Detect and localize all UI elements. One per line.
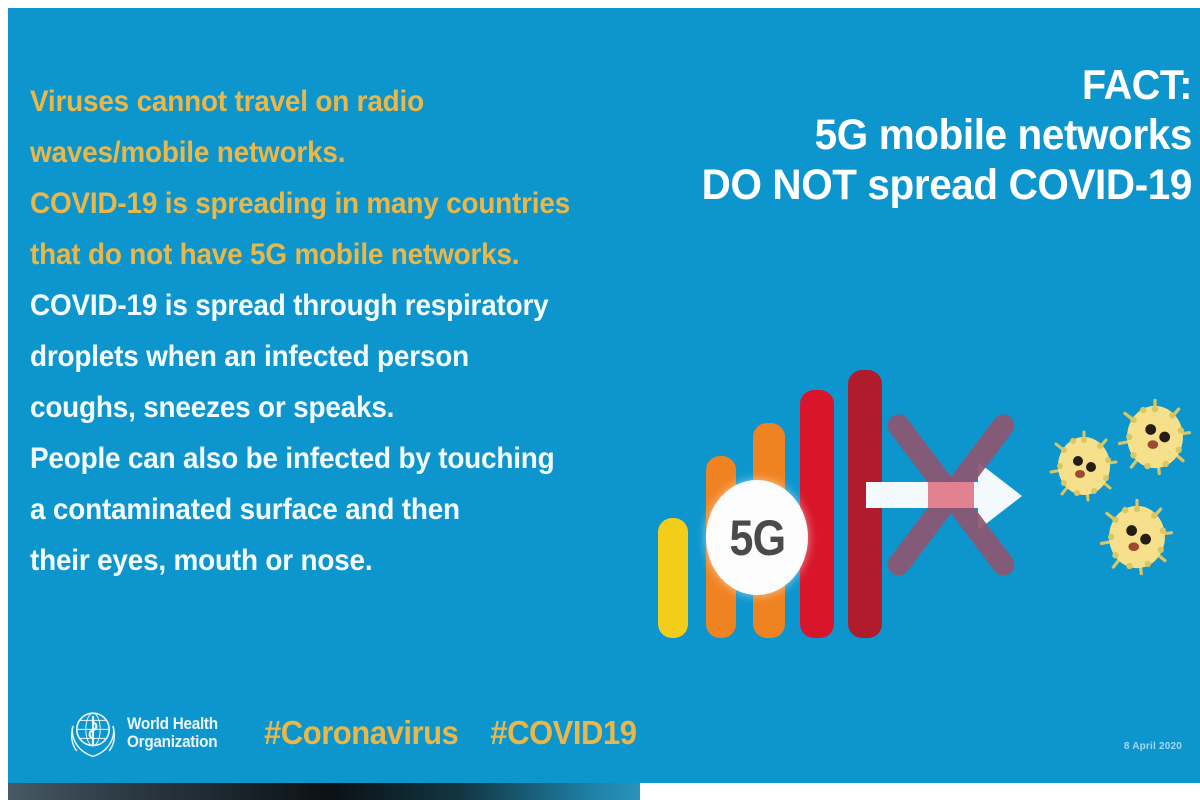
copy-line: Viruses cannot travel on radio [30, 76, 611, 127]
signal-bar-1 [658, 518, 688, 638]
copy-line: their eyes, mouth or nose. [30, 535, 611, 586]
left-margin [0, 0, 8, 800]
virus-particle-3 [1094, 494, 1180, 580]
poster-blue-background: Viruses cannot travel on radio waves/mob… [8, 8, 1200, 783]
copy-line: droplets when an infected person [30, 331, 611, 382]
hashtag-group: #Coronavirus #COVID19 [264, 714, 637, 752]
virus-particle-2 [1112, 394, 1198, 480]
copy-line: that do not have 5G mobile networks. [30, 229, 611, 280]
headline-line-networks: 5G mobile networks [628, 110, 1192, 160]
copy-line: COVID-19 is spreading in many countries [30, 178, 611, 229]
who-logo: World Health Organization [66, 706, 228, 760]
copy-line: a contaminated surface and then [30, 484, 611, 535]
who-emblem-icon [66, 706, 120, 760]
footer-block: World Health Organization #Coronavirus #… [66, 706, 660, 760]
bottom-edge-strip [0, 783, 640, 800]
copy-line: coughs, sneezes or speaks. [30, 382, 611, 433]
who-wordmark-line1: World Health [127, 715, 218, 733]
top-margin [0, 0, 1200, 8]
headline-line-fact: FACT: [628, 60, 1192, 110]
who-wordmark-line2: Organization [127, 733, 218, 751]
blocked-cross-icon [876, 400, 1026, 590]
hashtag-coronavirus[interactable]: #Coronavirus [264, 714, 458, 752]
hashtag-covid19[interactable]: #COVID19 [490, 714, 636, 752]
signal-bar-4 [800, 390, 834, 638]
copy-line: waves/mobile networks. [30, 127, 611, 178]
headline-block: FACT: 5G mobile networks DO NOT spread C… [592, 60, 1192, 210]
5g-badge: 5G [706, 480, 808, 595]
headline-line-donot: DO NOT spread COVID-19 [628, 160, 1192, 210]
who-wordmark: World Health Organization [127, 715, 228, 751]
date-stamp: 8 April 2020 [1124, 741, 1182, 752]
infographic-poster: Viruses cannot travel on radio waves/mob… [0, 0, 1200, 800]
cross-center-highlight [928, 482, 974, 508]
illustration-5g-no-spread: 5G [648, 338, 1200, 638]
copy-line: People can also be infected by touching [30, 433, 611, 484]
body-copy-block: Viruses cannot travel on radio waves/mob… [30, 76, 655, 586]
5g-badge-label: 5G [729, 509, 785, 567]
copy-line: COVID-19 is spread through respiratory [30, 280, 611, 331]
